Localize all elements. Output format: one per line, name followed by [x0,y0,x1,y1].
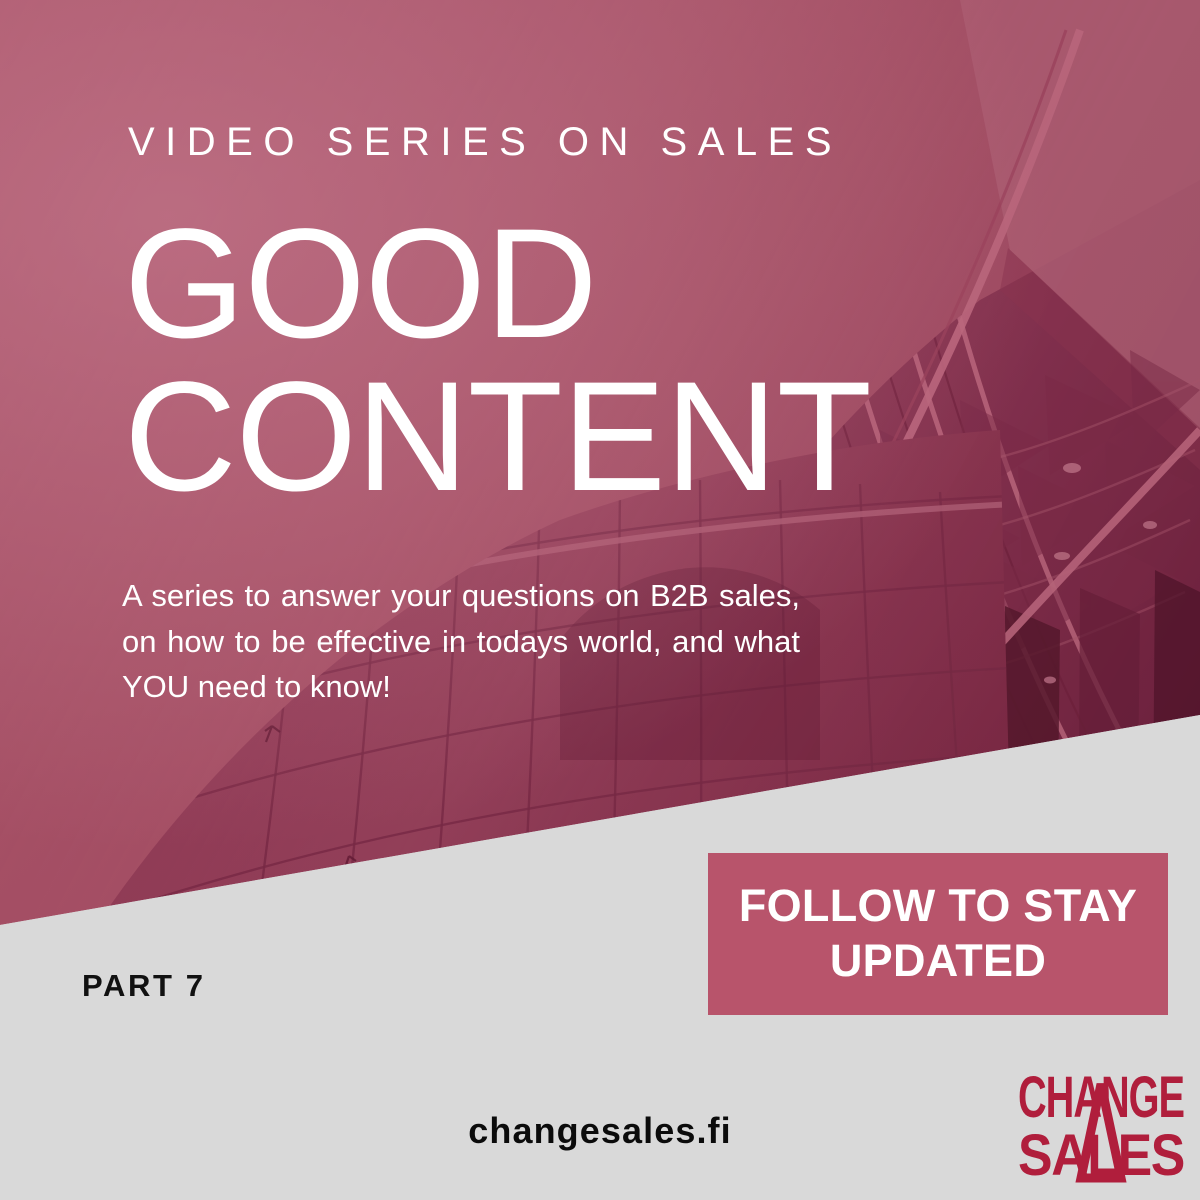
cta-line-1: FOLLOW TO STAY [739,880,1137,931]
part-number-label: PART 7 [82,970,206,1001]
cta-line-2: UPDATED [830,935,1046,986]
headline-line-1: GOOD [124,208,871,361]
body-copy: A series to answer your questions on B2B… [122,573,800,710]
follow-cta-button[interactable]: FOLLOW TO STAY UPDATED [708,853,1168,1015]
eyebrow-label: VIDEO SERIES ON SALES [128,122,842,162]
change-sales-logo[interactable]: CHANGE SALES [1018,1062,1184,1184]
headline-line-2: CONTENT [124,361,871,514]
follow-cta-label: FOLLOW TO STAY UPDATED [739,879,1137,989]
page-title: GOOD CONTENT [124,208,871,514]
social-post-canvas: VIDEO SERIES ON SALES GOOD CONTENT A ser… [0,0,1200,1200]
